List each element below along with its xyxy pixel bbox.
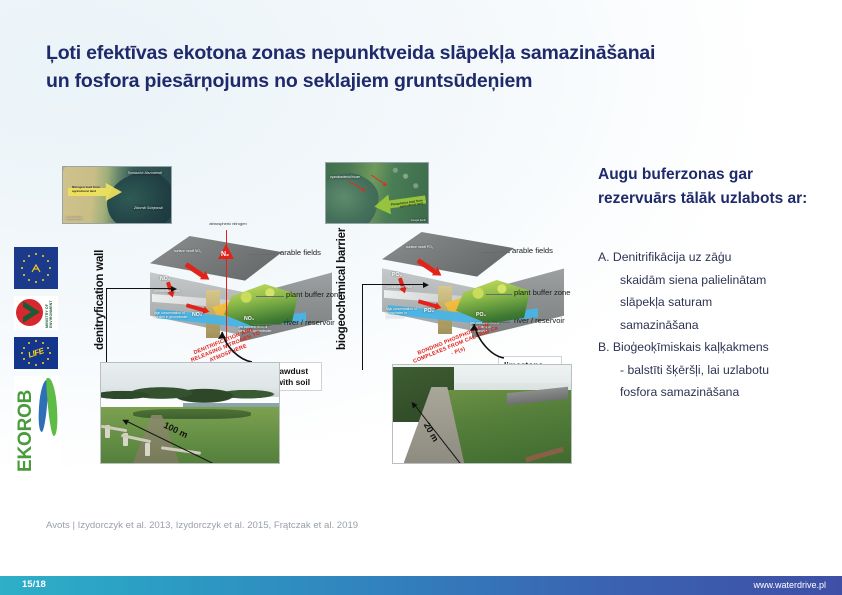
ecotone-diagram-figure: Nitrogen load from agricultural land Tom…: [62, 160, 574, 468]
photo-denitrification-wall-site: 100 m: [100, 362, 280, 464]
photo-biogeochemical-barrier-site: 20 m: [392, 364, 572, 464]
arable-fields-label-left: arable fields: [280, 248, 321, 257]
n2-marker-label: N₂: [221, 251, 229, 258]
ministry-label: MINISTRY OF ENVIRONMENT: [46, 298, 57, 328]
plant-buffer-label-left: plant buffer zone: [286, 290, 342, 299]
po4-tag-mid: PO₄: [424, 308, 434, 314]
no3-tag-mid: NO₃: [192, 312, 202, 318]
high-po4-note: high concentration of phosphates in grou…: [386, 308, 420, 320]
interreg-center-icon: [30, 262, 42, 274]
limestone-callout-arrow-icon: [454, 312, 510, 369]
surface-runoff-label-left: surface runoff NO₃: [174, 250, 202, 254]
satellite-attribution-left: Google Earth: [66, 216, 82, 220]
item-a-cont2: slāpekļa saturam: [598, 291, 838, 314]
title-line-1: Ļoti efektīvas ekotona zonas nepunktveid…: [46, 42, 655, 64]
arrow-notch-icon: [23, 307, 31, 317]
interreg-logo: [14, 247, 62, 289]
satellite-attribution-right: Google Earth: [411, 219, 426, 222]
footer-bar: 15/18 www.waterdrive.pl: [0, 576, 842, 595]
buffer-leader-left: [256, 296, 284, 297]
groundwater-level-note-left: groundwater level: [154, 290, 184, 294]
barrier-connector-vertical: [362, 284, 363, 370]
page-title: Ļoti efektīvas ekotona zonas nepunktveid…: [46, 40, 766, 95]
river-reservoir-label-left: river / reservoir: [284, 318, 335, 327]
list-item: B. Bioģeoķīmiskais kaļķakmens - balstīti…: [598, 336, 838, 404]
high-no3-note: high concentration of nitrates in ground…: [154, 312, 188, 320]
satellite-map-sulejow: Nitrogen load from agricultural land Tom…: [62, 166, 172, 224]
arable-leader-right: [482, 252, 510, 253]
biogeochemical-barrier-caption: biogeochemical barrier: [336, 222, 349, 350]
right-panel-body: A. Denitrifikācija uz zāģu skaidām siena…: [598, 246, 838, 404]
atmospheric-nitrogen-label: atmospheric nitrogen: [202, 222, 254, 227]
logo-stack: MINISTRY OF ENVIRONMENT LIFE EKO: [14, 247, 62, 481]
right-panel-heading: Augu buferzonas gar rezervuārs tālāk uzl…: [598, 163, 824, 211]
life-wordmark: LIFE: [27, 346, 45, 359]
denitryfication-wall-caption: denitryfication wall: [94, 230, 107, 350]
satellite-town-label: Tomaszów Mazowiecki: [127, 171, 162, 175]
item-a-cont3: samazināšana: [598, 314, 838, 337]
satellite-lake-label: Zbiornik Sulejowski: [134, 206, 163, 210]
surface-runoff-label-right: surface runoff PO₄: [406, 246, 434, 250]
footer-url[interactable]: www.waterdrive.pl: [753, 580, 826, 590]
barrier-connector-horizontal: [362, 284, 424, 285]
item-b-cont2: fosfora samazināšana: [598, 381, 838, 404]
ministry-of-environment-logo: MINISTRY OF ENVIRONMENT: [14, 296, 62, 330]
cyanobacterial-bloom-label: cyanobacterial bloom: [330, 175, 360, 179]
item-a-lead: A. Denitrifikācija uz zāģu: [598, 250, 731, 264]
arable-leader-left: [248, 254, 278, 255]
wall-connector-horizontal: [106, 288, 172, 289]
n2-marker-icon: N₂: [218, 244, 234, 259]
list-item: A. Denitrifikācija uz zāģu skaidām siena…: [598, 246, 838, 336]
satellite-map-bloom: cyanobacterial bloom Phosphorus load fro…: [325, 162, 429, 224]
wall-connector-vertical: [106, 288, 107, 372]
page-number: 15/18: [22, 579, 46, 590]
slide-root: Ļoti efektīvas ekotona zonas nepunktveid…: [0, 0, 842, 595]
ekorob-green-leaf-icon: [45, 378, 60, 436]
title-line-2: un fosfora piesārņojums no seklajiem gru…: [46, 68, 766, 96]
ekorob-wordmark: EKOROB: [15, 378, 37, 472]
eu-life-logo: LIFE: [14, 337, 62, 369]
item-b-cont1: - balstīti šķēršļi, lai uzlabotu: [598, 359, 838, 382]
item-a-cont1: skaidām siena palielinātam: [598, 269, 838, 292]
nitrogen-load-arrow-label: Nitrogen load from agricultural land: [72, 186, 114, 193]
item-b-lead: B. Bioģeoķīmiskais kaļķakmens: [598, 340, 769, 354]
arable-fields-label-right: arable fields: [512, 246, 553, 255]
groundwater-level-note-right: groundwater level: [386, 286, 416, 290]
plant-buffer-label-right: plant buffer zone: [514, 288, 570, 297]
buffer-leader-right: [486, 294, 512, 295]
ekorob-logo: EKOROB: [14, 376, 62, 474]
river-reservoir-label-right: river / reservoir: [514, 316, 565, 325]
source-citation: Avots | Izydorczyk et al. 2013, Izydorcz…: [46, 520, 358, 531]
